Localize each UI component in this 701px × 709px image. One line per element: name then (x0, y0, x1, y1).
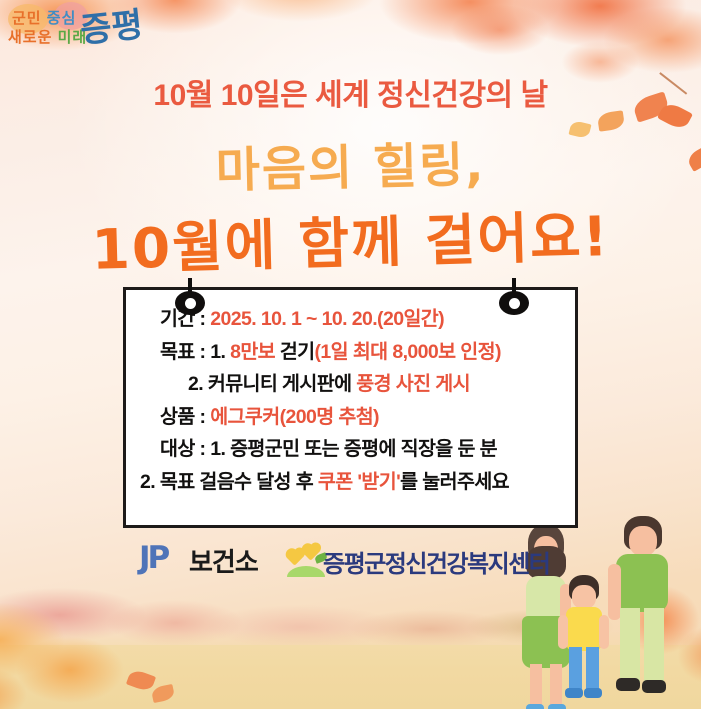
footer-logo-row: JP 보건소 증평군정신건강복지센터 (0, 538, 701, 586)
brand-slogan-line1: 군민 중심 (12, 7, 76, 28)
info-line-list: 기간 : 2025. 10. 1 ~ 10. 20.(20일간)목표 : 1. … (126, 310, 581, 505)
father-shoe (616, 678, 640, 691)
fallen-leaf-icon (126, 668, 156, 693)
child-shoe (584, 688, 602, 698)
brand-word-saeroun: 새로운 (8, 29, 52, 46)
info-row-goal-2: 2. 커뮤니티 게시판에 풍경 사진 게시 (126, 375, 581, 395)
child-shoe (565, 688, 583, 698)
father-shoe (642, 680, 666, 693)
logo-hill (287, 566, 325, 577)
info-row-goal-1: 목표 : 1. 8만보 걷기(1일 최대 8,000보 인정) (126, 343, 581, 363)
info-highlight-text: 쿠폰 '받기' (318, 471, 400, 493)
child-pants (569, 647, 582, 693)
pin-hole (509, 298, 520, 309)
kicker-text: 10월 10일은 세계 정신건강의 날 (0, 70, 701, 114)
mother-shoe (526, 704, 544, 709)
info-highlight-text: 풍경 사진 게시 (356, 373, 470, 395)
info-plain-text: 목표 : 1. (160, 341, 230, 363)
child-arm (558, 615, 568, 649)
info-plain-text: 대상 : 1. 증평군민 또는 증평에 직장을 둔 분 (160, 438, 497, 460)
info-highlight-text: 에그쿠커(200명 추첨) (210, 406, 379, 428)
info-plain-text: 를 눌러주세요 (400, 471, 509, 493)
info-highlight-text: 2025. 10. 1 ~ 10. 20.(20일간) (210, 308, 444, 330)
pin-hole (185, 298, 196, 309)
brand-county-name: 증평 (78, 0, 145, 52)
person-child (560, 575, 614, 709)
info-highlight-text: 8만보 (230, 341, 280, 363)
info-box: 기간 : 2025. 10. 1 ~ 10. 20.(20일간)목표 : 1. … (123, 287, 578, 528)
brand-word-jungsim: 중심 (47, 10, 77, 27)
child-face (572, 585, 596, 609)
jeungpyeong-brand-logo: 군민 중심 새로운 미래 증평 (8, 4, 158, 54)
father-pants (620, 608, 640, 684)
pin-right-icon (497, 278, 531, 316)
health-center-label: 보건소 (189, 542, 258, 579)
info-row-target-2: 2. 목표 걸음수 달성 후 쿠폰 '받기'를 눌러주세요 (126, 473, 581, 493)
mental-center-logo-icon (285, 544, 327, 576)
poster-canvas: 군민 중심 새로운 미래 증평 10월 10일은 세계 정신건강의 날 마음의 … (0, 0, 701, 709)
fallen-leaf-icon (151, 684, 176, 703)
health-center-logo-icon: JP (139, 540, 187, 574)
info-highlight-text: (1일 최대 8,000보 인정) (315, 341, 501, 363)
info-plain-text: 상품 : (160, 406, 210, 428)
jp-monogram: JP (139, 540, 167, 576)
pin-left-icon (173, 278, 207, 316)
info-plain-text: 2. 목표 걸음수 달성 후 (140, 471, 318, 493)
brand-slogan-line2: 새로운 미래 (8, 26, 87, 47)
mental-center-label: 증평군정신건강복지센터 (323, 544, 549, 579)
info-plain-text: 걷기 (280, 341, 315, 363)
brand-word-gunmin: 군민 (12, 10, 42, 27)
child-pants (586, 647, 599, 693)
info-row-target-1: 대상 : 1. 증평군민 또는 증평에 직장을 둔 분 (126, 440, 581, 460)
info-plain-text: 2. 커뮤니티 게시판에 (188, 373, 356, 395)
info-row-prize: 상품 : 에그쿠커(200명 추첨) (126, 408, 581, 428)
father-pants (644, 608, 664, 684)
heart-icon (287, 549, 303, 565)
child-shirt (566, 607, 602, 651)
headline-line-2: 10월에 함께 걸어요! (0, 189, 701, 287)
mother-leg (530, 664, 542, 709)
